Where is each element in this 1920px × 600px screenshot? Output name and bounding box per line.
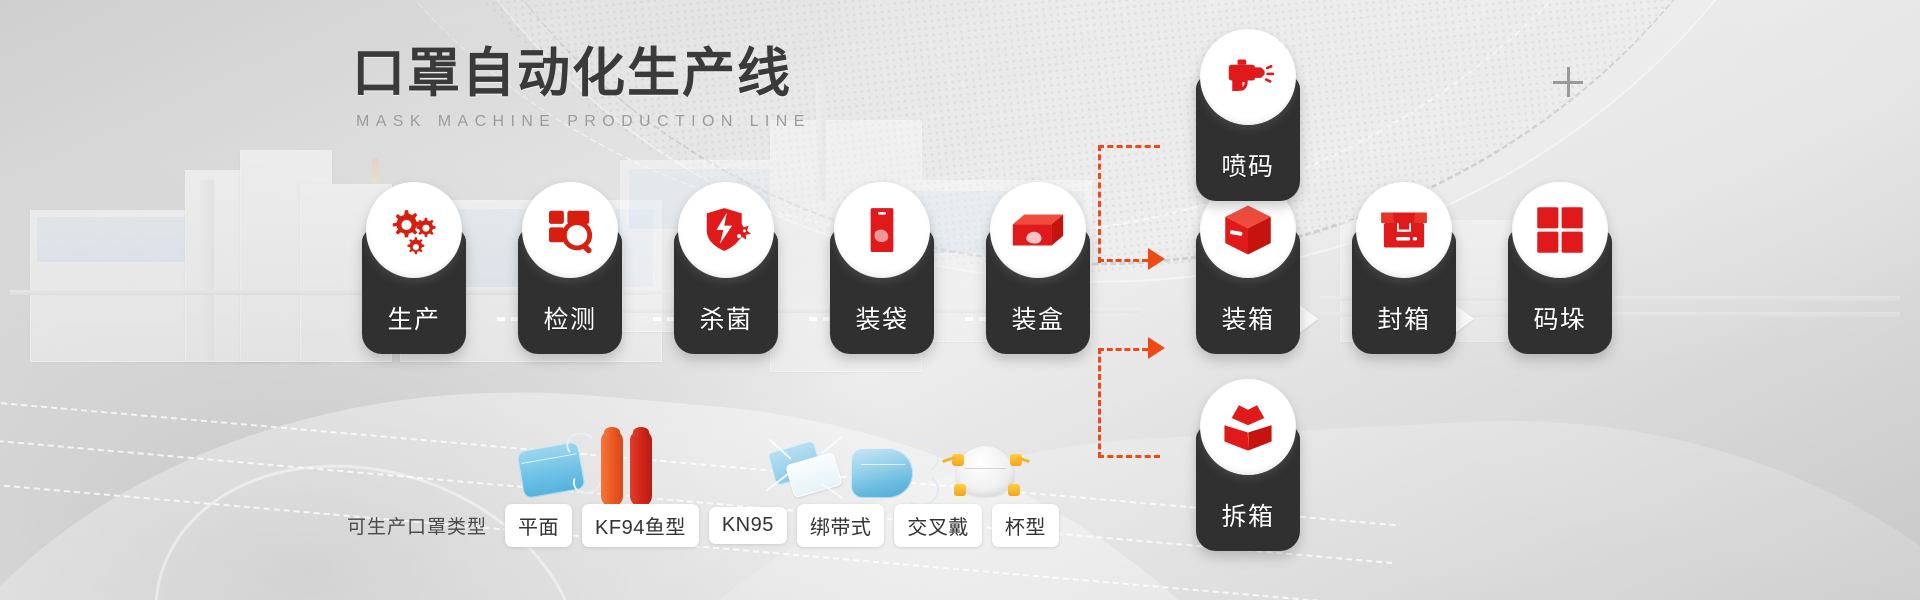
branch-line-to-coding: [1098, 145, 1160, 148]
mask-type-tag-kn95[interactable]: KN95: [709, 507, 787, 544]
box-carton-icon: [990, 182, 1086, 278]
branch-line-in-top: [1098, 259, 1148, 262]
page-subtitle: MASK MACHINE PRODUCTION LINE: [356, 113, 811, 131]
flow-dash-3: [809, 317, 831, 321]
spray-gun-icon: [1200, 29, 1296, 125]
flow-node-bagging[interactable]: 装袋: [830, 228, 934, 354]
flow-node-inspection[interactable]: 检测: [518, 228, 622, 354]
flat-surgical-mask-photo: [508, 436, 595, 505]
tie-on-mask-photo: [771, 442, 845, 502]
flow-node-label: 装袋: [830, 300, 934, 336]
flow-node-boxing[interactable]: 装箱: [1196, 228, 1300, 354]
flow-node-unboxing[interactable]: 拆箱: [1196, 425, 1300, 551]
branch-trunk-upper: [1098, 145, 1101, 263]
flow-node-sealing[interactable]: 封箱: [1352, 228, 1456, 354]
banner-stage: 口罩自动化生产线 MASK MACHINE PRODUCTION LINE: [0, 0, 1920, 600]
bag-packing-icon: [834, 182, 930, 278]
mask-type-tag-kf94[interactable]: KF94鱼型: [582, 504, 699, 547]
flow-node-label: 杀菌: [674, 300, 778, 336]
gears-icon: [366, 182, 462, 278]
kf94-fish-mask-photo-orange: [601, 431, 623, 507]
flow-chevron-6: [1454, 304, 1474, 334]
mask-type-tag-flat[interactable]: 平面: [505, 504, 572, 547]
flow-node-label: 封箱: [1352, 300, 1456, 336]
kf94-fish-mask-photo-red: [630, 431, 652, 507]
branch-arrow-to-boxing: [1148, 248, 1165, 270]
flow-node-label: 装盒: [986, 300, 1090, 336]
kn95-gray-mask-photo: [683, 437, 763, 499]
flow-node-label: 拆箱: [1196, 497, 1300, 533]
flow-dash-1: [497, 317, 519, 321]
mask-type-tag-tieon[interactable]: 绑带式: [797, 504, 885, 547]
palletize-grid-icon: [1512, 182, 1608, 278]
flow-node-cartoning[interactable]: 装盒: [986, 228, 1090, 354]
branch-arrow-to-unboxing-return: [1148, 337, 1165, 359]
mask-type-tag-cup[interactable]: 杯型: [992, 504, 1059, 547]
flow-chevron-5: [1298, 304, 1318, 334]
flow-node-label: 生产: [362, 300, 466, 336]
cross-wear-mask-photo: [847, 442, 935, 506]
page-title: 口罩自动化生产线: [352, 46, 811, 102]
mask-type-tag-row: 可生产口罩类型 平面 KF94鱼型 KN95 绑带式 交叉戴 杯型: [347, 504, 1059, 547]
flow-node-inkjet-coding[interactable]: 喷码: [1196, 75, 1300, 201]
flow-node-label: 检测: [518, 300, 622, 336]
magnifier-inspect-icon: [522, 182, 618, 278]
flow-node-label: 码垛: [1508, 300, 1612, 336]
flow-node-label: 喷码: [1196, 147, 1300, 183]
cup-type-mask-photo: [944, 440, 1028, 502]
branch-line-in-bottom: [1098, 348, 1148, 351]
branch-line-to-unboxing: [1098, 455, 1160, 458]
flow-node-sterilization[interactable]: 杀菌: [674, 228, 778, 354]
flow-node-production[interactable]: 生产: [362, 228, 466, 354]
flow-node-label: 装箱: [1196, 300, 1300, 336]
flow-dash-4: [965, 317, 987, 321]
mask-type-tag-crosswear[interactable]: 交叉戴: [894, 504, 982, 547]
sealed-carton-icon: [1356, 182, 1452, 278]
branch-trunk-lower: [1098, 348, 1101, 458]
open-carton-icon: [1200, 379, 1296, 475]
flow-dash-2: [653, 317, 675, 321]
mask-type-caption: 可生产口罩类型: [347, 512, 487, 539]
shield-sterilize-icon: [678, 182, 774, 278]
flow-node-palletizing[interactable]: 码垛: [1508, 228, 1612, 354]
crosshair-marker-icon: [1553, 67, 1583, 97]
title-block: 口罩自动化生产线 MASK MACHINE PRODUCTION LINE: [352, 46, 811, 131]
